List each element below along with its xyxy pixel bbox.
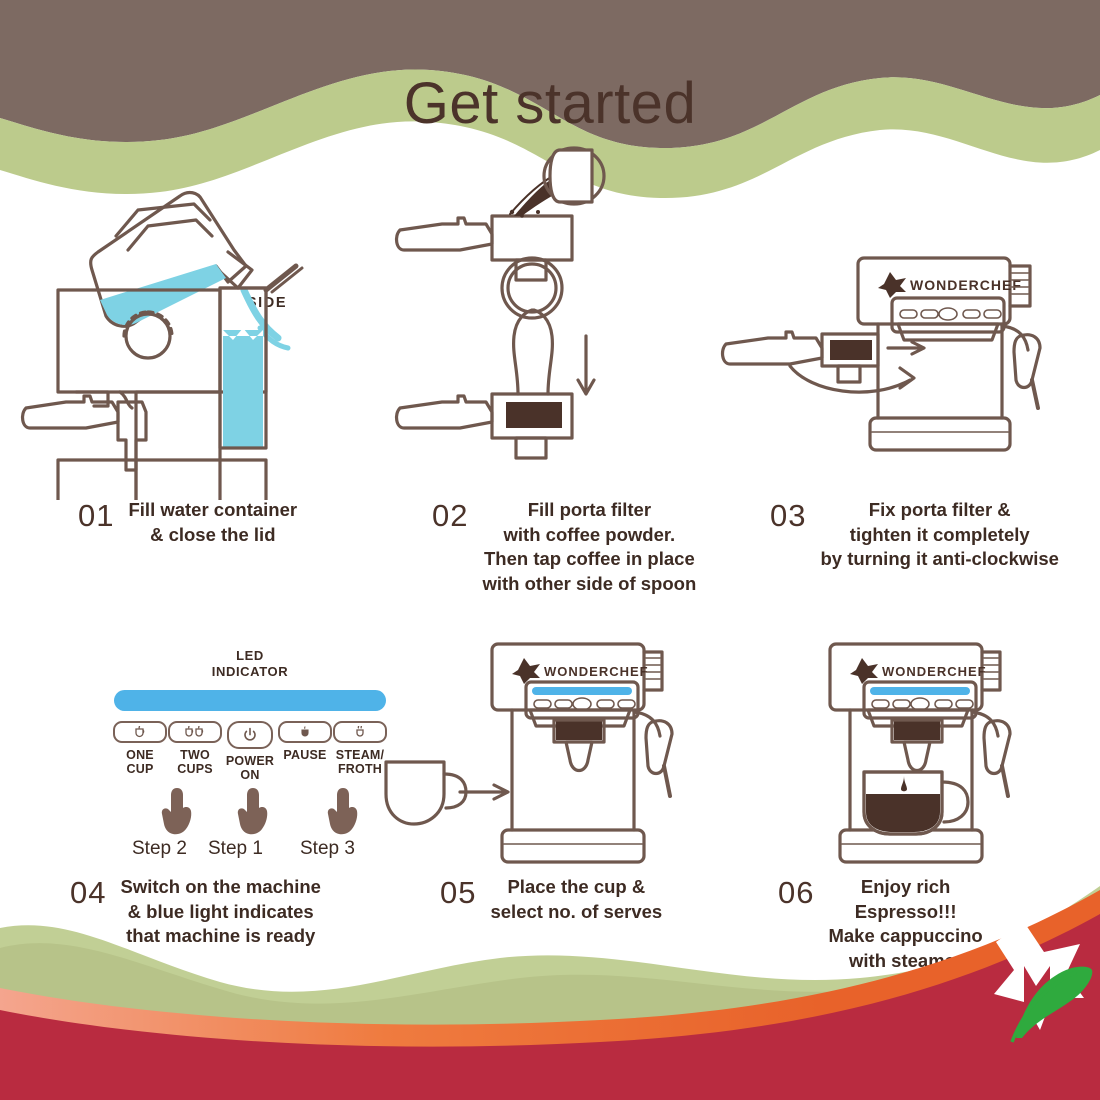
hand-step-label-1: Step 1 [208,838,263,860]
step-05-text: Place the cup & select no. of serves [490,875,662,924]
measuring-spoon-handle [550,150,592,202]
brand-text-03: WONDERCHEF [910,277,1022,293]
porta-filter-spout-bottom [516,438,546,458]
control-buttons-03 [900,308,1001,320]
coffee-grain-2 [520,214,524,218]
step-02-text: Fill porta filter with coffee powder. Th… [482,498,696,596]
brand-logo-star-03 [878,272,906,298]
infographic-stage: Get started SIDE [0,0,1100,1100]
step-05-place-cup-art: WONDERCHEF [380,634,720,874]
brand-text-05: WONDERCHEF [544,664,649,679]
porta-filter-handle [23,396,118,428]
porta-filter-basket-top [492,216,572,260]
one-cup-glyph [132,725,148,738]
tamper-stem-right [534,310,552,394]
porta-filter-attached-06 [894,720,940,740]
step-03-caption: 03 Fix porta filter & tighten it complet… [770,498,1059,572]
button-steam-froth[interactable]: STEAM/ FROTH [334,721,386,782]
machine-lower-body [136,392,220,500]
tamped-coffee-bed [506,402,562,428]
button-pause-label: PAUSE [283,748,326,762]
drip-tray-05 [502,830,644,862]
coffee-grain-3 [536,210,540,214]
step-02-fill-porta-art [380,140,720,490]
porta-filter-handle-top [397,218,492,250]
pointing-hand-icon-step3 [326,786,360,836]
porta-filter-spout-05 [566,742,592,771]
step-06-caption: 06 Enjoy rich Espresso!!! Make cappuccin… [778,875,983,973]
step-01-machine-fill-art [20,140,380,500]
hand-step-labels: Step 2 Step 1 Step 3 [110,838,390,864]
step-01-text: Fill water container & close the lid [128,498,297,547]
page-title: Get started [0,70,1100,137]
steam-icon[interactable] [333,721,387,743]
button-steam-froth-label: STEAM/ FROTH [336,748,384,776]
spout-tube [120,392,132,408]
two-cups-icon[interactable] [168,721,222,743]
espresso-cup-handle-06 [942,782,968,822]
led-indicator-heading: LED INDICATOR [110,648,390,681]
control-panel-03 [892,298,1004,332]
porta-filter-handle-bottom [397,396,492,428]
pointing-hand-icon-step2 [160,786,194,836]
pointing-hands-group [110,786,390,838]
porta-filter-handle-03 [723,332,822,364]
porta-filter-coffee-03 [830,340,872,360]
step-05-number: 05 [440,875,476,908]
button-one-cup[interactable]: ONE CUP [114,721,166,782]
button-pause[interactable]: PAUSE [279,721,331,782]
step-04-number: 04 [70,875,106,908]
pause-cup-icon[interactable] [278,721,332,743]
control-button-row: ONE CUP TWO CUPS [114,721,386,782]
one-cup-icon[interactable] [113,721,167,743]
steam-wand-tip-03 [1032,380,1038,408]
step-04-led-panel: LED INDICATOR ONE CUP [110,648,390,864]
porta-filter-attached-05 [556,720,602,740]
step-04-text: Switch on the machine & blue light indic… [120,875,320,949]
step-02-caption: 02 Fill porta filter with coffee powder.… [432,498,696,596]
step-06-number: 06 [778,875,814,908]
step-03-number: 03 [770,498,806,531]
hand-step-label-3: Step 3 [300,838,355,860]
control-buttons-06 [872,698,973,710]
step-05-illustration: WONDERCHEF [380,620,720,980]
coffee-grain-1 [510,210,514,214]
two-cups-glyph [184,725,206,738]
pause-glyph [297,725,313,738]
led-indicator-lit-06 [870,687,970,695]
twist-arrow-curve-03 [790,366,910,392]
machine-dial [126,314,170,358]
tamper-stem-left [514,310,532,394]
coffee-cup-05 [386,762,444,824]
tank-water-level [223,330,263,448]
porta-filter-spout-03 [838,366,860,382]
steam-wand-tip-06 [1002,766,1008,796]
button-two-cups[interactable]: TWO CUPS [169,721,221,782]
logo-leaf-stem [1012,972,1076,1042]
hand-step-label-2: Step 2 [132,838,187,860]
machine-base [58,460,266,500]
step-06-text: Enjoy rich Espresso!!! Make cappuccino w… [828,875,982,973]
button-power-on[interactable]: POWER ON [224,721,276,782]
led-indicator-bar [114,690,386,711]
machine-drip-tray-03 [870,418,1010,450]
button-two-cups-label: TWO CUPS [177,748,213,776]
step-06-espresso-art: WONDERCHEF [720,634,1090,874]
porta-filter-spout-06 [904,742,930,771]
button-power-on-label: POWER ON [226,754,274,782]
brand-star-05 [512,658,540,684]
espresso-liquid-06 [866,794,940,832]
step-02-number: 02 [432,498,468,531]
brand-text-06: WONDERCHEF [882,664,987,679]
led-indicator-lit-05 [532,687,632,695]
twist-arrow-head-03 [900,368,914,388]
steam-wand-tip-05 [664,766,670,796]
button-one-cup-label: ONE CUP [126,748,154,776]
jug-spout [216,252,252,288]
steam-glyph [352,725,368,738]
control-buttons-05 [534,698,635,710]
step-01-number: 01 [78,498,114,531]
step-05-caption: 05 Place the cup & select no. of serves [440,875,662,924]
power-icon[interactable] [227,721,273,749]
step-04-caption: 04 Switch on the machine & blue light in… [70,875,321,949]
power-glyph [242,727,258,743]
brand-star-06 [850,658,878,684]
tamper-spoon-bowl-inner [508,264,556,312]
step-03-text: Fix porta filter & tighten it completely… [820,498,1058,572]
step-01-caption: 01 Fill water container & close the lid [78,498,297,547]
pointing-hand-icon-step1 [236,786,270,836]
